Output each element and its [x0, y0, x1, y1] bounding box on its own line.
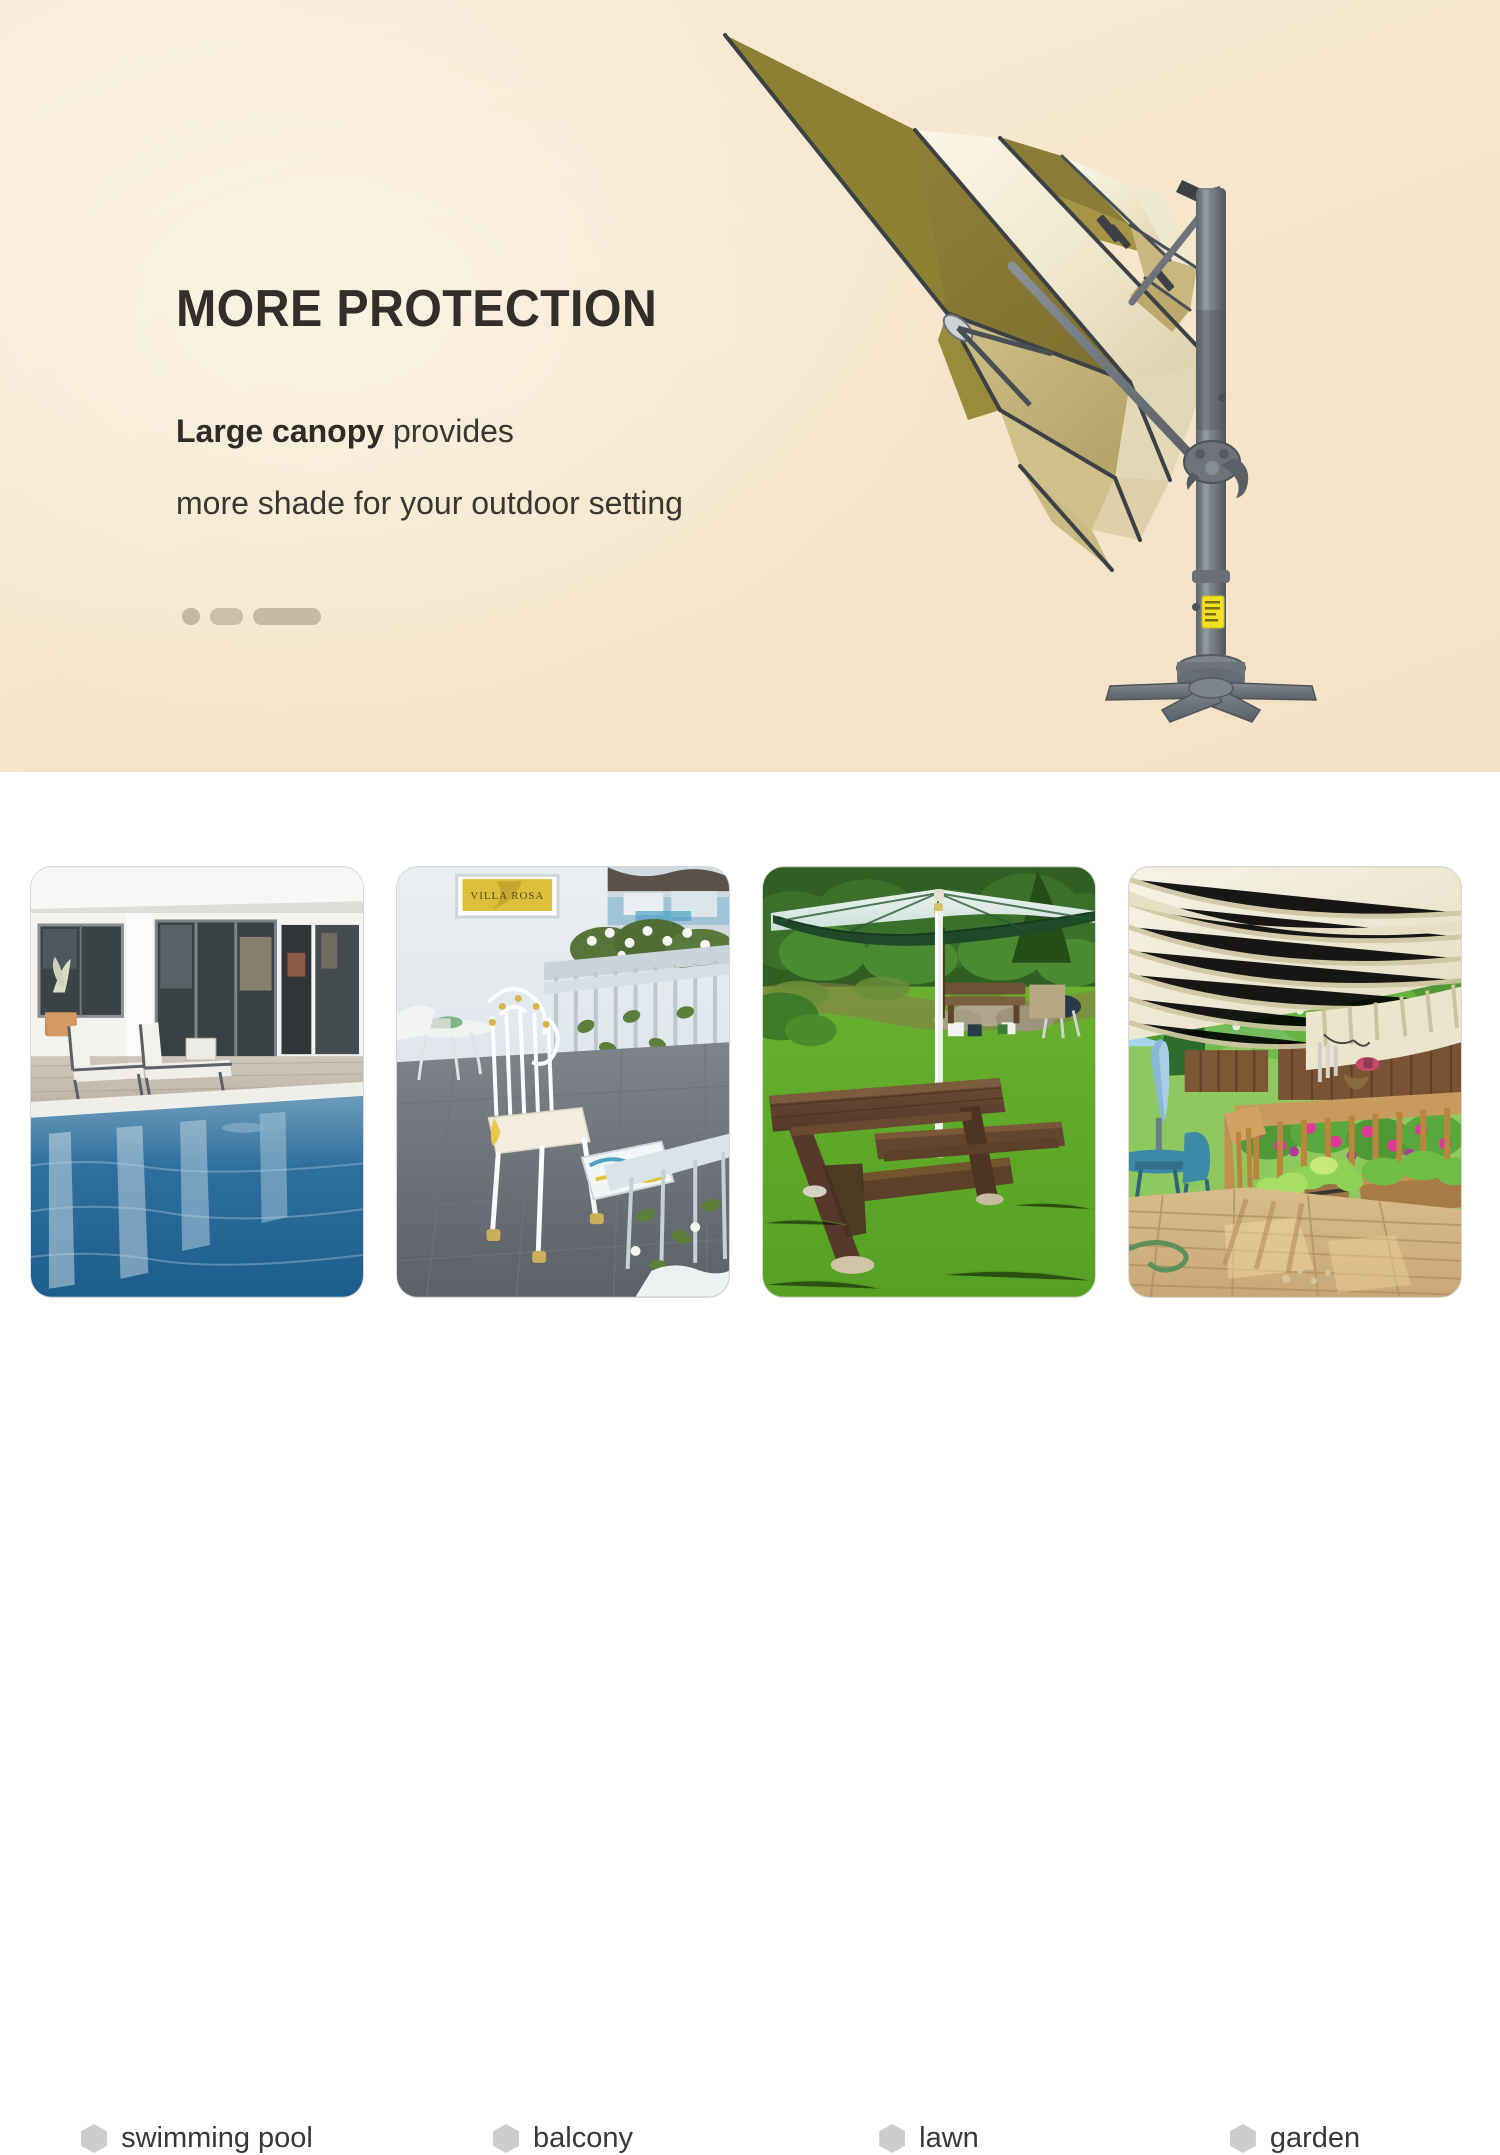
subtitle-line-1: Large canopy provides: [176, 415, 936, 447]
scenario-label-balcony: balcony: [396, 2122, 730, 2155]
subtitle-line-2: more shade for your outdoor setting: [176, 487, 936, 519]
subtitle-emphasis: Large canopy: [176, 413, 384, 449]
subtitle-rest: provides: [384, 413, 514, 449]
scene-lawn: [763, 867, 1095, 1297]
scene-garden: [1129, 867, 1461, 1297]
progress-dot-3[interactable]: [253, 608, 321, 625]
scenario-label-garden: garden: [1128, 2122, 1462, 2155]
progress-dot-2[interactable]: [210, 608, 243, 625]
scenario-card-swimming-pool[interactable]: [30, 866, 364, 1298]
scenario-label-text: garden: [1270, 2122, 1360, 2155]
svg-text:VILLA ROSA: VILLA ROSA: [470, 890, 544, 902]
progress-dot-1[interactable]: [182, 608, 200, 625]
scenario-card-lawn[interactable]: [762, 866, 1096, 1298]
hexagon-icon: [879, 2124, 905, 2153]
scenario-card-balcony[interactable]: VILLA ROSA: [396, 866, 730, 1298]
scenario-label-lawn: lawn: [762, 2122, 1096, 2155]
scenario-label-text: lawn: [919, 2122, 979, 2155]
progress-indicator: [182, 608, 321, 625]
scenario-label-swimming-pool: swimming pool: [30, 2122, 364, 2155]
scenario-label-row: swimming pool balcony lawn garden: [30, 2122, 1470, 2155]
product-feature-page: MORE PROTECTION Large canopy provides mo…: [0, 0, 1500, 1500]
hexagon-icon: [493, 2124, 519, 2153]
scenario-label-text: swimming pool: [121, 2122, 313, 2155]
scenario-label-text: balcony: [533, 2122, 633, 2155]
hero-copy: MORE PROTECTION Large canopy provides mo…: [176, 282, 936, 519]
page-title: MORE PROTECTION: [176, 282, 883, 337]
scene-swimming-pool: [31, 867, 363, 1297]
scenario-card-list: VILLA ROSA: [30, 866, 1470, 1298]
hexagon-icon: [81, 2124, 107, 2153]
hero-panel: MORE PROTECTION Large canopy provides mo…: [0, 0, 1500, 772]
scenario-card-garden[interactable]: [1128, 866, 1462, 1298]
hexagon-icon: [1230, 2124, 1256, 2153]
usage-scenarios-gallery: VILLA ROSA: [0, 772, 1500, 1500]
scene-balcony: VILLA ROSA: [397, 867, 729, 1297]
